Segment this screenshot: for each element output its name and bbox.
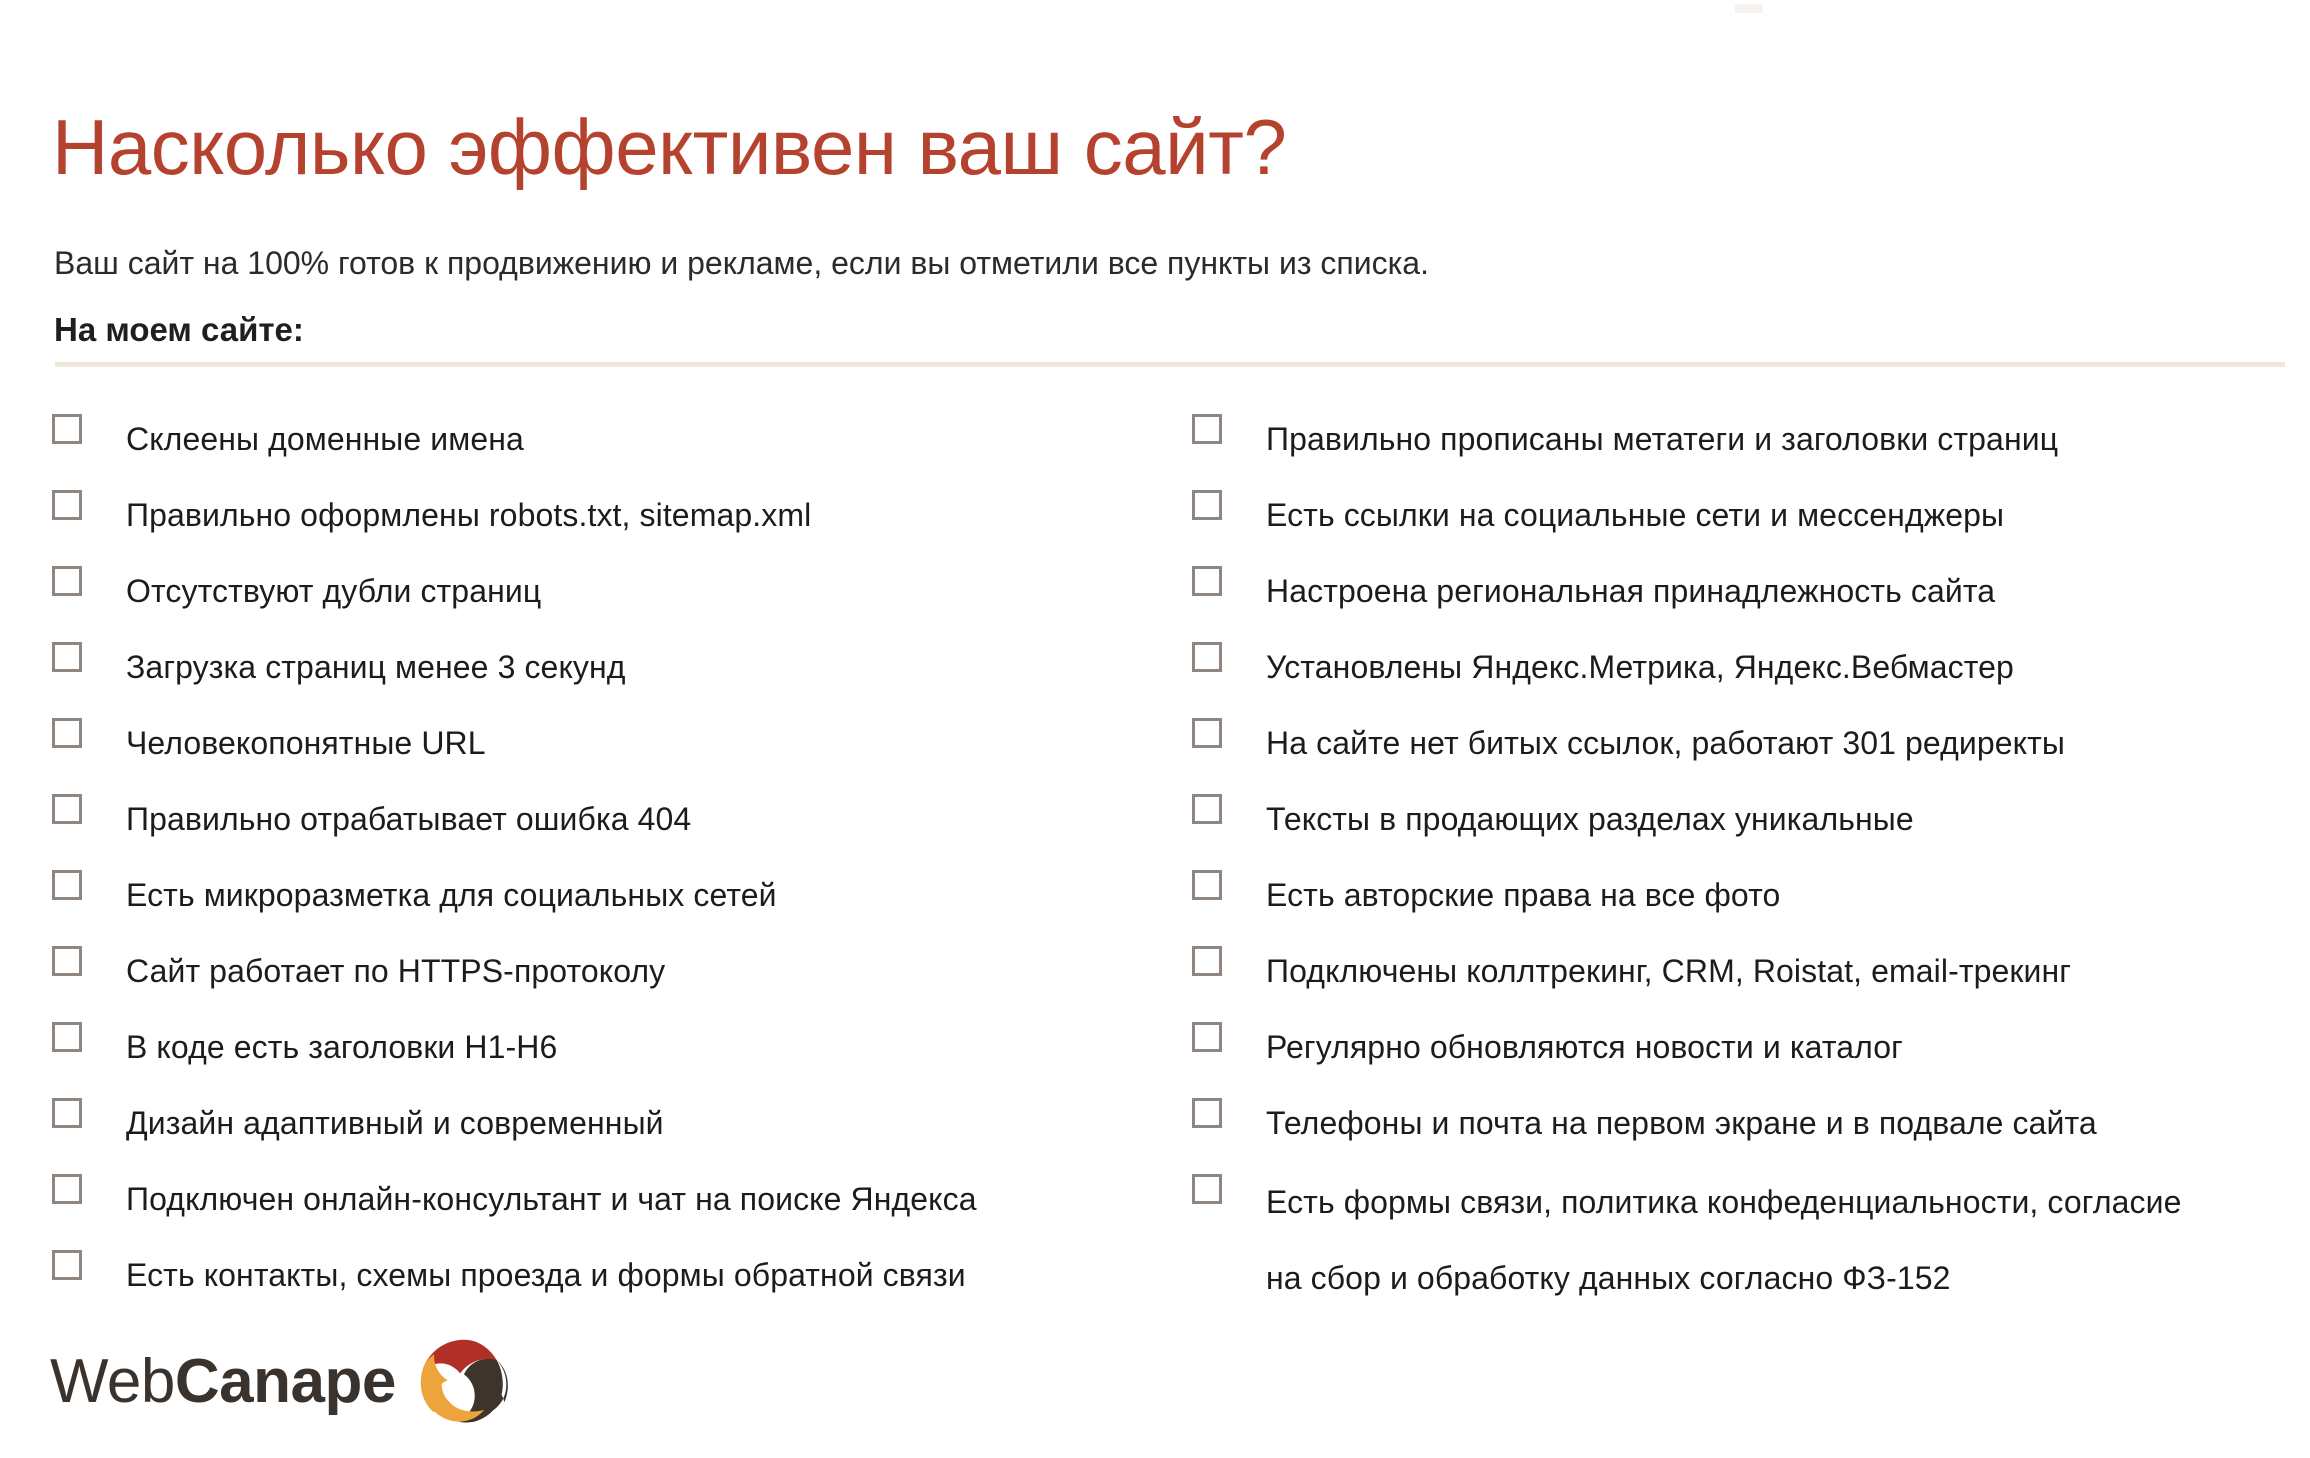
list-item-label: Есть авторские права на все фото (1266, 860, 1780, 930)
list-item-label: Склеены доменные имена (126, 404, 524, 474)
checkbox-icon[interactable] (52, 566, 82, 596)
checkbox-icon[interactable] (1192, 642, 1222, 672)
list-item[interactable]: Есть авторские права на все фото (1192, 860, 2292, 936)
list-item-label: Подключен онлайн-консультант и чат на по… (126, 1164, 977, 1234)
checklist-column-left: Склеены доменные имена Правильно оформле… (52, 404, 1152, 1316)
list-item-label: Правильно отрабатывает ошибка 404 (126, 784, 691, 854)
list-item-label: Загрузка страниц менее 3 секунд (126, 632, 626, 702)
checkbox-icon[interactable] (1192, 1022, 1222, 1052)
list-item[interactable]: Правильно отрабатывает ошибка 404 (52, 784, 1152, 860)
checkbox-icon[interactable] (1192, 566, 1222, 596)
list-item-label: Отсутствуют дубли страниц (126, 556, 541, 626)
checkbox-icon[interactable] (52, 1098, 82, 1128)
checkbox-icon[interactable] (52, 718, 82, 748)
checkbox-icon[interactable] (52, 1250, 82, 1280)
list-item[interactable]: Настроена региональная принадлежность са… (1192, 556, 2292, 632)
list-item-label: Правильно оформлены robots.txt, sitemap.… (126, 480, 811, 550)
checkbox-icon[interactable] (52, 1022, 82, 1052)
list-item[interactable]: Есть контакты, схемы проезда и формы обр… (52, 1240, 1152, 1316)
list-item-label: Тексты в продающих разделах уникальные (1266, 784, 1914, 854)
checklist-page: Насколько эффективен ваш сайт? Ваш сайт … (0, 0, 2310, 1458)
header-divider (55, 362, 2285, 367)
list-item[interactable]: Человекопонятные URL (52, 708, 1152, 784)
checkbox-icon[interactable] (52, 1174, 82, 1204)
list-item[interactable]: Телефоны и почта на первом экране и в по… (1192, 1088, 2292, 1164)
page-subtitle: Ваш сайт на 100% готов к продвижению и р… (54, 244, 1429, 282)
list-item-label: На сайте нет битых ссылок, работают 301 … (1266, 708, 2065, 778)
list-item[interactable]: Регулярно обновляются новости и каталог (1192, 1012, 2292, 1088)
list-item-label: Регулярно обновляются новости и каталог (1266, 1012, 1903, 1082)
list-item-label: Подключены коллтрекинг, CRM, Roistat, em… (1266, 936, 2071, 1006)
list-item-label: В коде есть заголовки H1-H6 (126, 1012, 557, 1082)
list-item-label: Есть ссылки на социальные сети и мессенд… (1266, 480, 2004, 550)
checkbox-icon[interactable] (1192, 1174, 1222, 1204)
logo-text-canape: Canape (175, 1351, 396, 1413)
list-item[interactable]: В коде есть заголовки H1-H6 (52, 1012, 1152, 1088)
list-item[interactable]: Отсутствуют дубли страниц (52, 556, 1152, 632)
list-item-label: Есть контакты, схемы проезда и формы обр… (126, 1240, 966, 1310)
list-item[interactable]: Подключены коллтрекинг, CRM, Roistat, em… (1192, 936, 2292, 1012)
list-item-label: Правильно прописаны метатеги и заголовки… (1266, 404, 2058, 474)
checkbox-icon[interactable] (1192, 794, 1222, 824)
checkbox-icon[interactable] (1192, 414, 1222, 444)
checkbox-icon[interactable] (52, 946, 82, 976)
list-item-label: Человекопонятные URL (126, 708, 486, 778)
webcanape-logo: Web Canape (50, 1340, 512, 1424)
list-item-label: Есть микроразметка для социальных сетей (126, 860, 777, 930)
list-item-label: Телефоны и почта на первом экране и в по… (1266, 1088, 2097, 1158)
checkbox-icon[interactable] (1192, 718, 1222, 748)
checkbox-icon[interactable] (1192, 946, 1222, 976)
checkbox-icon[interactable] (52, 490, 82, 520)
checkbox-icon[interactable] (52, 794, 82, 824)
list-item-label: Сайт работает по HTTPS-протоколу (126, 936, 665, 1006)
list-item[interactable]: Склеены доменные имена (52, 404, 1152, 480)
list-item[interactable]: Загрузка страниц менее 3 секунд (52, 632, 1152, 708)
list-item[interactable]: Правильно прописаны метатеги и заголовки… (1192, 404, 2292, 480)
section-heading: На моем сайте: (54, 310, 304, 350)
list-item[interactable]: Тексты в продающих разделах уникальные (1192, 784, 2292, 860)
top-artifact (1735, 4, 1763, 13)
checkbox-icon[interactable] (1192, 870, 1222, 900)
list-item[interactable]: Есть ссылки на социальные сети и мессенд… (1192, 480, 2292, 556)
checkbox-icon[interactable] (52, 870, 82, 900)
list-item[interactable]: Дизайн адаптивный и современный (52, 1088, 1152, 1164)
list-item[interactable]: Есть формы связи, политика конфеденциаль… (1192, 1164, 2292, 1316)
page-title: Насколько эффективен ваш сайт? (52, 104, 1286, 190)
logo-text-web: Web (50, 1351, 175, 1413)
list-item[interactable]: На сайте нет битых ссылок, работают 301 … (1192, 708, 2292, 784)
checkbox-icon[interactable] (1192, 490, 1222, 520)
list-item-label: Установлены Яндекс.Метрика, Яндекс.Вебма… (1266, 632, 2014, 702)
checkbox-icon[interactable] (52, 642, 82, 672)
list-item-label: Настроена региональная принадлежность са… (1266, 556, 1995, 626)
list-item[interactable]: Правильно оформлены robots.txt, sitemap.… (52, 480, 1152, 556)
list-item-label: Есть формы связи, политика конфеденциаль… (1266, 1164, 2181, 1316)
list-item-label: Дизайн адаптивный и современный (126, 1088, 664, 1158)
list-item[interactable]: Подключен онлайн-консультант и чат на по… (52, 1164, 1152, 1240)
checkbox-icon[interactable] (1192, 1098, 1222, 1128)
webcanape-swirl-icon (416, 1335, 512, 1431)
list-item[interactable]: Установлены Яндекс.Метрика, Яндекс.Вебма… (1192, 632, 2292, 708)
list-item[interactable]: Есть микроразметка для социальных сетей (52, 860, 1152, 936)
checkbox-icon[interactable] (52, 414, 82, 444)
list-item[interactable]: Сайт работает по HTTPS-протоколу (52, 936, 1152, 1012)
checklist-column-right: Правильно прописаны метатеги и заголовки… (1192, 404, 2292, 1316)
